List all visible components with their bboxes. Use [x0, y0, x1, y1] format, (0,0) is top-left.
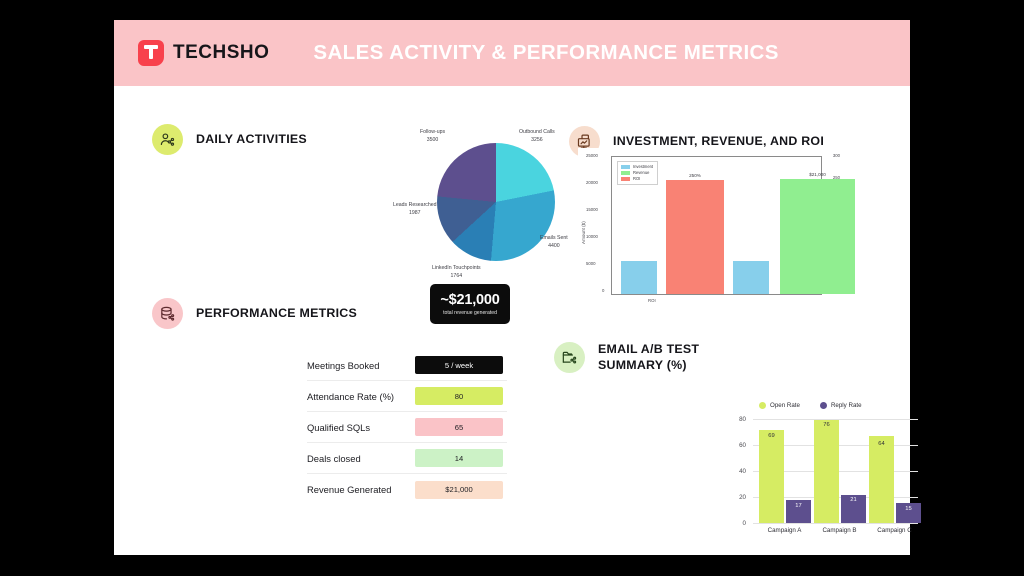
table-row: Attendance Rate (%) 80 — [307, 381, 507, 412]
bar-open-rate-c — [869, 436, 894, 523]
legend-label: ROI — [633, 176, 640, 181]
y2-tick: 300 — [833, 153, 840, 158]
y-tick: 40 — [726, 468, 746, 475]
metric-value: 65 — [415, 418, 503, 436]
revenue-caption: total revenue generated — [443, 310, 497, 316]
metric-label: Revenue Generated — [307, 484, 415, 495]
pie-label-linkedin-touchpoints: LinkedIn Touchpoints1764 — [432, 265, 481, 280]
legend-swatch — [820, 402, 827, 409]
section-title: DAILY ACTIVITIES — [196, 132, 307, 148]
x-label-campaign-a: Campaign A — [753, 527, 816, 534]
y-tick: 0 — [726, 520, 746, 527]
metric-label: Deals closed — [307, 453, 415, 464]
section-header-performance-metrics: PERFORMANCE METRICS — [152, 298, 357, 329]
y-tick: 80 — [726, 416, 746, 423]
bar-value-open-a: 69 — [759, 433, 784, 439]
table-row: Qualified SQLs 65 — [307, 412, 507, 443]
y-tick: 0 — [602, 288, 604, 293]
bar-investment-1 — [621, 261, 657, 294]
performance-metrics-table: Meetings Booked 5 / week Attendance Rate… — [307, 350, 507, 505]
section-header-daily-activities: DAILY ACTIVITIES — [152, 124, 307, 155]
email-ab-summary-chart: Open Rate Reply Rate 80 60 40 20 0 69 17… — [725, 402, 925, 547]
x-axis-label: ROI — [648, 298, 656, 303]
section-title-line1: EMAIL A/B TEST — [598, 342, 699, 358]
legend-item: Investment — [621, 164, 653, 169]
legend-swatch — [621, 171, 630, 175]
logo-text: TECHSHO — [173, 42, 269, 64]
legend-swatch — [759, 402, 766, 409]
pie-label-emails-sent: Emails Sent4400 — [540, 235, 568, 250]
legend-item: Revenue — [621, 170, 653, 175]
metric-value: 5 / week — [415, 356, 503, 374]
y-tick: 60 — [726, 442, 746, 449]
table-row: Deals closed 14 — [307, 443, 507, 474]
x-label-campaign-c: Campaign C — [863, 527, 926, 534]
revenue-amount: ~$21,000 — [440, 292, 499, 308]
metric-label: Attendance Rate (%) — [307, 391, 415, 402]
slide-canvas: TECHSHO SALES ACTIVITY & PERFORMANCE MET… — [114, 20, 910, 555]
page-title: SALES ACTIVITY & PERFORMANCE METRICS — [313, 41, 778, 65]
pie-label-leads-researched: Leads Researched1987 — [393, 202, 437, 217]
bar-roi — [666, 180, 724, 294]
bar-value-reply-c: 15 — [896, 506, 921, 512]
brand-logo: TECHSHO — [138, 40, 269, 66]
legend-item: Open Rate — [759, 402, 800, 409]
x-label-campaign-b: Campaign B — [808, 527, 871, 534]
bar-investment-2 — [733, 261, 769, 294]
chart-legend: Open Rate Reply Rate — [759, 402, 862, 409]
legend-swatch — [621, 165, 630, 169]
pie-graphic — [437, 143, 555, 261]
y-axis-label: Amount ($) — [581, 221, 586, 244]
pie-label-follow-ups: Follow-ups3500 — [420, 129, 445, 144]
y-tick: 20000 — [586, 180, 598, 185]
y-tick: 20 — [726, 494, 746, 501]
metric-value: 14 — [415, 449, 503, 467]
legend-label: Revenue — [633, 170, 649, 175]
section-title-line2: SUMMARY (%) — [598, 358, 699, 374]
legend-item: Reply Rate — [820, 402, 862, 409]
bar-value-reply-a: 17 — [786, 503, 811, 509]
bar-open-rate-b — [814, 420, 839, 523]
chart-legend: Investment Revenue ROI — [617, 161, 658, 185]
y-tick: 15000 — [586, 207, 598, 212]
legend-label: Reply Rate — [831, 402, 862, 409]
bar-value-open-b: 76 — [814, 422, 839, 428]
ab-plot-area: 80 60 40 20 0 69 17 Campaign A 76 21 Cam… — [753, 419, 918, 523]
table-row: Revenue Generated $21,000 — [307, 474, 507, 505]
bar-label-revenue: $21,000 — [780, 172, 855, 177]
legend-swatch — [621, 177, 630, 181]
section-header-email-ab: EMAIL A/B TEST SUMMARY (%) — [554, 342, 699, 373]
legend-label: Investment — [633, 164, 653, 169]
bar-open-rate-a — [759, 430, 784, 523]
metric-value: 80 — [415, 387, 503, 405]
investment-plot-area: Investment Revenue ROI 250% $21,000 — [611, 156, 822, 295]
folder-share-icon — [554, 342, 585, 373]
investment-revenue-roi-chart: 25000 20000 15000 10000 5000 0 Amount ($… — [578, 148, 854, 315]
gridline — [753, 523, 918, 524]
bar-value-reply-b: 21 — [841, 497, 866, 503]
legend-item: ROI — [621, 176, 653, 181]
y-tick: 25000 — [586, 153, 598, 158]
bar-revenue — [780, 179, 855, 294]
person-share-icon — [152, 124, 183, 155]
section-title: INVESTMENT, REVENUE, AND ROI — [613, 134, 824, 150]
bar-label-roi: 250% — [666, 173, 724, 178]
table-row: Meetings Booked 5 / week — [307, 350, 507, 381]
legend-label: Open Rate — [770, 402, 800, 409]
section-title: PERFORMANCE METRICS — [196, 306, 357, 322]
database-share-icon — [152, 298, 183, 329]
y-tick: 5000 — [586, 261, 596, 266]
y-tick: 10000 — [586, 234, 598, 239]
techsho-logo-icon — [138, 40, 164, 66]
bar-value-open-c: 64 — [869, 441, 894, 447]
pie-label-outbound-calls: Outbound Calls3256 — [519, 129, 555, 144]
metric-label: Qualified SQLs — [307, 422, 415, 433]
metric-value: $21,000 — [415, 481, 503, 499]
slide-header: TECHSHO SALES ACTIVITY & PERFORMANCE MET… — [114, 20, 910, 86]
revenue-highlight-badge: ~$21,000 total revenue generated — [430, 284, 510, 324]
metric-label: Meetings Booked — [307, 360, 415, 371]
